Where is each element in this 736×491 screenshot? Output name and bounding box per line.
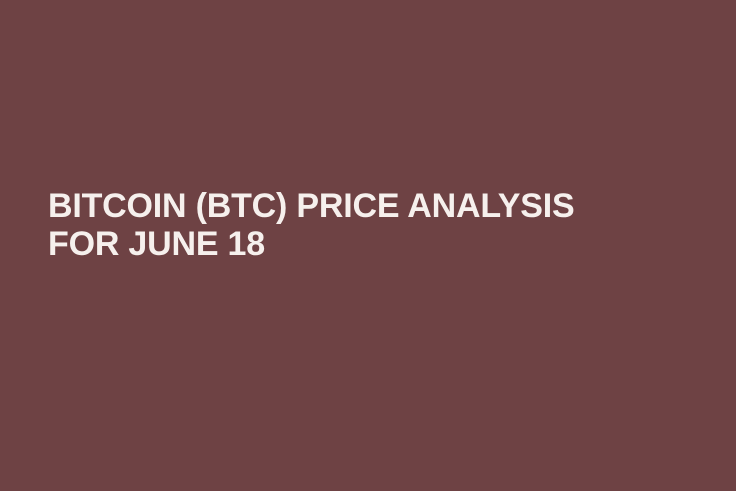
page-title-line-2: FOR JUNE 18	[48, 225, 562, 263]
page-title: BITCOIN (BTC) PRICE ANALYSIS FOR JUNE 18	[0, 187, 610, 263]
page-title-line-1: BITCOIN (BTC) PRICE ANALYSIS	[48, 187, 562, 225]
article-hero-card: BITCOIN (BTC) PRICE ANALYSIS FOR JUNE 18	[0, 0, 736, 491]
